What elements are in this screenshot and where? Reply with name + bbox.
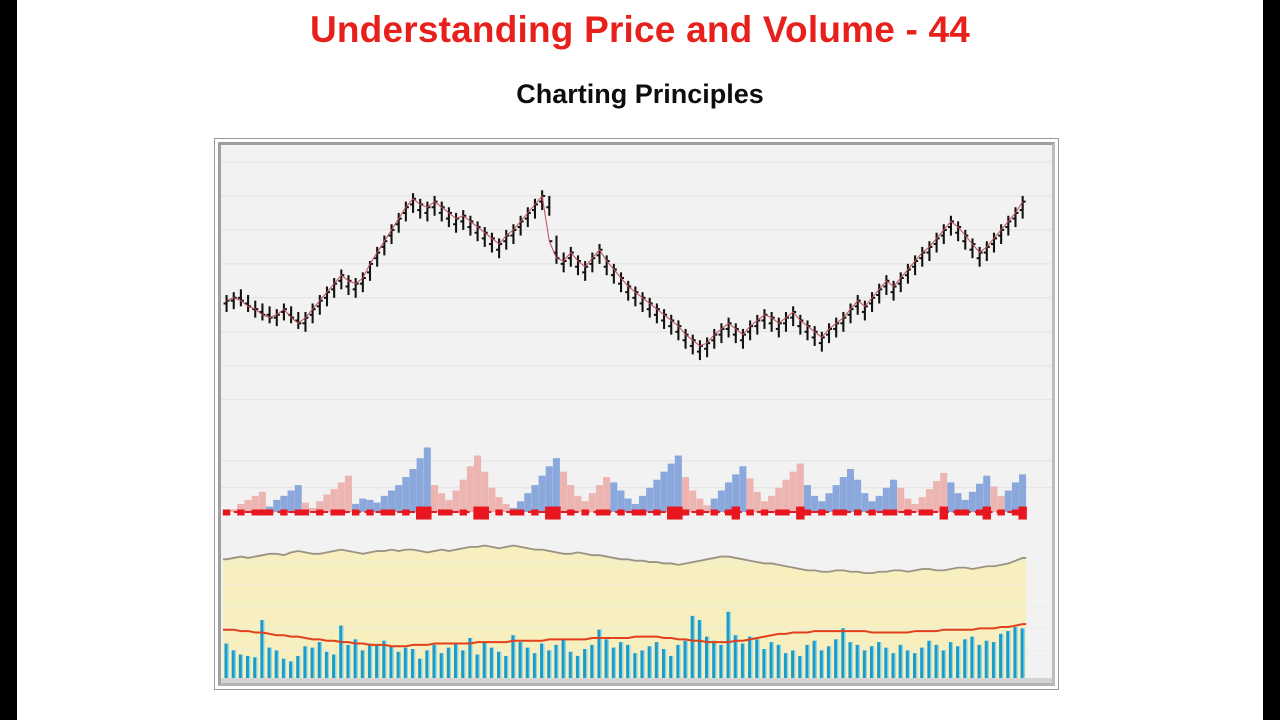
price-panel-canvas: [221, 145, 1052, 428]
page-title: Understanding Price and Volume - 44: [17, 10, 1263, 51]
chart-plot-root: [221, 145, 1052, 683]
page-subtitle: Charting Principles: [17, 80, 1263, 110]
volume-panel: [221, 534, 1052, 683]
chart-frame: [214, 138, 1059, 690]
letterbox-bar-left: [0, 0, 17, 720]
price-panel: [221, 145, 1052, 428]
macd-histogram-panel: [221, 428, 1052, 534]
chart-frame-bevel: [218, 142, 1055, 686]
macd-panel-canvas: [221, 428, 1052, 534]
letterbox-bar-right: [1263, 0, 1280, 720]
volume-panel-canvas: [221, 534, 1052, 683]
slide-canvas: Understanding Price and Volume - 44 Char…: [0, 0, 1280, 720]
